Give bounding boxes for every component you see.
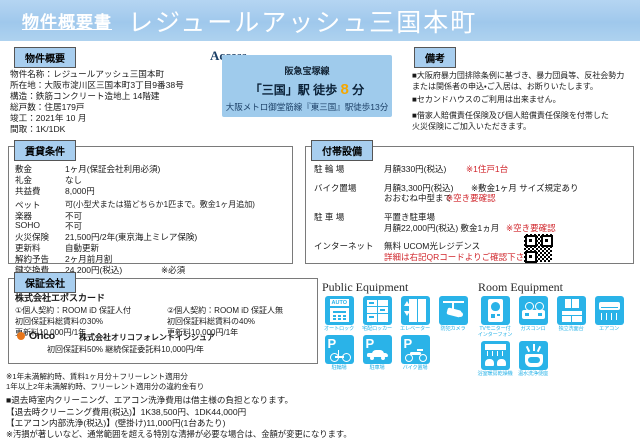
washlet-icon <box>519 341 548 370</box>
rent-row-label: SOHO <box>15 220 40 230</box>
equipment-caption: バイク置場 <box>396 365 434 371</box>
room-equipment-grid: TVモニター付 インターフォン ガスコンロ 独立洗面台 <box>476 296 634 380</box>
motorcycle-parking-icon: P <box>401 335 430 364</box>
remarks-line: 火災保険にご加入いただきます。 <box>412 121 531 132</box>
property-summary-document: 物件概要書 レジュールアッシュ三国本町 物件概要 物件名称：レジュールアッシュ三… <box>0 0 640 440</box>
equipment-item-auto-lock: AUTO オートロック <box>320 296 358 332</box>
elevator-icon <box>401 296 430 325</box>
remarks-line: ■借家人賠償責任保険及び個人賠償責任保険を付帯した <box>412 110 609 121</box>
guarantee-plan2-line: ②個人契約：ROOM iD 保証人無 <box>167 305 283 316</box>
equipment-caption: TVモニター付 インターフォン <box>476 326 514 338</box>
overview-row: 間取：1K/1DK <box>10 123 65 135</box>
orico-company-name: 株式会社オリコフォレントインシュア <box>79 332 215 343</box>
bicycle-parking-icon: P <box>325 335 354 364</box>
footnote-line: 【退去時クリーニング費用(税込)】1K38,500円、1DK44,000円 <box>6 407 246 418</box>
equipment-caption: 独立洗面台 <box>552 326 590 332</box>
rent-row-value: 可(小型犬または猫どちらか1匹まで。敷金1ヶ月追加) <box>65 199 255 210</box>
remarks-line: ■大阪府暴力団排除条例に基づき、暴力団員等、反社会勢力 <box>412 70 624 81</box>
public-equipment-title: Public Equipment <box>322 280 408 295</box>
remarks-line: または関係者の申込・ご入居は、お断りいたします。 <box>412 81 598 92</box>
equipment-caption: 浴室暖房乾燥機 <box>476 371 514 377</box>
equipment-item-bath-dryer: 浴室暖房乾燥機 <box>476 341 514 377</box>
facility-note: ※1住戸1台 <box>466 163 508 175</box>
facility-label: 駐 輪 場 <box>314 163 344 175</box>
car-parking-icon: P <box>363 335 392 364</box>
footnote-line: ■退去時室内クリーニング、エアコン洗浄費用は借主様の負担となります。 <box>6 395 293 406</box>
facility-label: バイク置場 <box>314 182 356 194</box>
facility-value: 月額330円(税込) <box>384 163 446 175</box>
equipment-caption: 駐車場 <box>358 365 396 371</box>
footnote-line: ※汚損が著しいなど、通常範囲を超える特別な清掃が必要な場合は、金額が変更になりま… <box>6 429 352 440</box>
orico-logo-icon <box>17 332 25 340</box>
equipment-item-car-parking: P 駐車場 <box>358 335 396 371</box>
rent-row-label: 共益費 <box>15 185 41 197</box>
access-box: 阪急宝塚線 「三国」駅 徒歩 8 分 大阪メトロ御堂筋線『東三国』駅徒歩13分 <box>222 55 392 117</box>
equipment-caption: 宅配ロッカー <box>358 326 396 332</box>
equipment-item-air-conditioner: エアコン <box>590 296 628 338</box>
orico-terms: 初回保証料50% 継続保証委託料10,000円/年 <box>47 344 204 355</box>
remarks-line: ■セカンドハウスのご利用は出来ません。 <box>412 94 561 105</box>
qr-finder-bottom-left <box>525 251 537 263</box>
access-walk-minutes: 8 <box>340 81 348 98</box>
equipment-item-washlet: 温水洗浄便座 <box>514 341 552 377</box>
equipment-item-washstand: 独立洗面台 <box>552 296 590 338</box>
qr-finder-top-right <box>541 235 553 247</box>
page-title: レジュールアッシュ三国本町 <box>128 3 477 39</box>
rent-conditions-section: 敷金 1ヶ月(保証会社利用必須) 礼金 なし 共益費 8,000円 ペット 可(… <box>8 146 293 264</box>
equipment-item-gas-stove: ガスコンロ <box>514 296 552 338</box>
equipment-caption: エアコン <box>590 326 628 332</box>
equipment-item-bicycle-parking: P 駐輪場 <box>320 335 358 371</box>
document-header: 物件概要書 レジュールアッシュ三国本町 <box>0 0 640 41</box>
security-camera-icon <box>439 296 468 325</box>
video-intercom-icon <box>481 296 510 325</box>
equipment-caption: 防犯カメラ <box>434 326 472 332</box>
delivery-locker-icon <box>363 296 392 325</box>
facility-value-2: 月額22,000円(税込) 敷金1ヵ月 <box>384 222 499 234</box>
equipment-item-delivery-locker: 宅配ロッカー <box>358 296 396 332</box>
equipment-item-elevator: エレベーター <box>396 296 434 332</box>
room-equipment-title: Room Equipment <box>478 280 563 295</box>
access-train-line: 阪急宝塚線 <box>222 64 392 77</box>
section-tab-overview: 物件概要 <box>14 47 76 68</box>
equipment-caption: オートロック <box>320 326 358 332</box>
facility-label: 駐 車 場 <box>314 211 344 223</box>
bath-dryer-icon <box>481 341 510 370</box>
air-conditioner-icon <box>595 296 624 325</box>
section-tab-rent-conditions: 賃貸条件 <box>14 140 76 161</box>
guarantee-plan1-line: 初回保証料総賃料の30% <box>15 316 103 327</box>
rent-row-note: ※必須 <box>161 264 185 276</box>
access-station-prefix: 「三国」駅 徒歩 <box>250 83 337 97</box>
access-sub-line: 大阪メトロ御堂筋線『東三国』駅徒歩13分 <box>222 101 392 113</box>
facility-note-2: 詳細は右記QRコードよりご確認下さい。 <box>384 251 541 263</box>
facilities-section: 駐 輪 場 月額330円(税込) ※1住戸1台 バイク置場 月額3,300円(税… <box>305 146 634 264</box>
guarantee-plan2-line: 初回保証料総賃料の40% <box>167 316 255 327</box>
footnote-line: 【エアコン内部洗浄(税込)】(壁掛け)11,000円(1台あたり) <box>6 418 225 429</box>
public-equipment-grid: AUTO オートロック 宅配ロッカー <box>320 296 472 374</box>
equipment-caption: ガスコンロ <box>514 326 552 332</box>
equipment-item-motorcycle-parking: P バイク置場 <box>396 335 434 371</box>
document-type-label: 物件概要書 <box>22 8 112 33</box>
footnote-line: 1年以上2年未満解約時、フリーレント適用分の違約金有り <box>6 382 204 393</box>
facility-value-2: おおむね中型まで <box>384 192 452 204</box>
guarantee-plan1-line: ①個人契約：ROOM iD 保証人付 <box>15 305 131 316</box>
section-tab-remarks: 備考 <box>414 47 456 68</box>
footnote-line: ※1年未満解約時、賃料1ヶ月分＋フリーレント適用分 <box>6 372 188 383</box>
equipment-caption: 駐輪場 <box>320 365 358 371</box>
auto-lock-icon: AUTO <box>325 296 354 325</box>
rent-row-value: 8,000円 <box>65 185 95 197</box>
equipment-caption: エレベーター <box>396 326 434 332</box>
equipment-item-security-camera: 防犯カメラ <box>434 296 472 332</box>
washstand-icon <box>557 296 586 325</box>
gas-stove-icon <box>519 296 548 325</box>
section-tab-guarantee: 保証会社 <box>14 272 76 293</box>
equipment-item-video-intercom: TVモニター付 インターフォン <box>476 296 514 338</box>
qr-finder-top-left <box>525 235 537 247</box>
facility-label: インターネット <box>314 240 374 252</box>
internet-qr-code[interactable] <box>523 233 553 263</box>
facility-note-2: ※空き要確認 <box>446 192 496 204</box>
section-tab-facilities: 付帯設備 <box>311 140 373 161</box>
access-station-suffix: 分 <box>352 83 364 97</box>
orico-brand-label: Orico <box>29 330 55 342</box>
equipment-caption: 温水洗浄便座 <box>514 371 552 377</box>
access-walk-line: 「三国」駅 徒歩 8 分 <box>222 81 392 98</box>
